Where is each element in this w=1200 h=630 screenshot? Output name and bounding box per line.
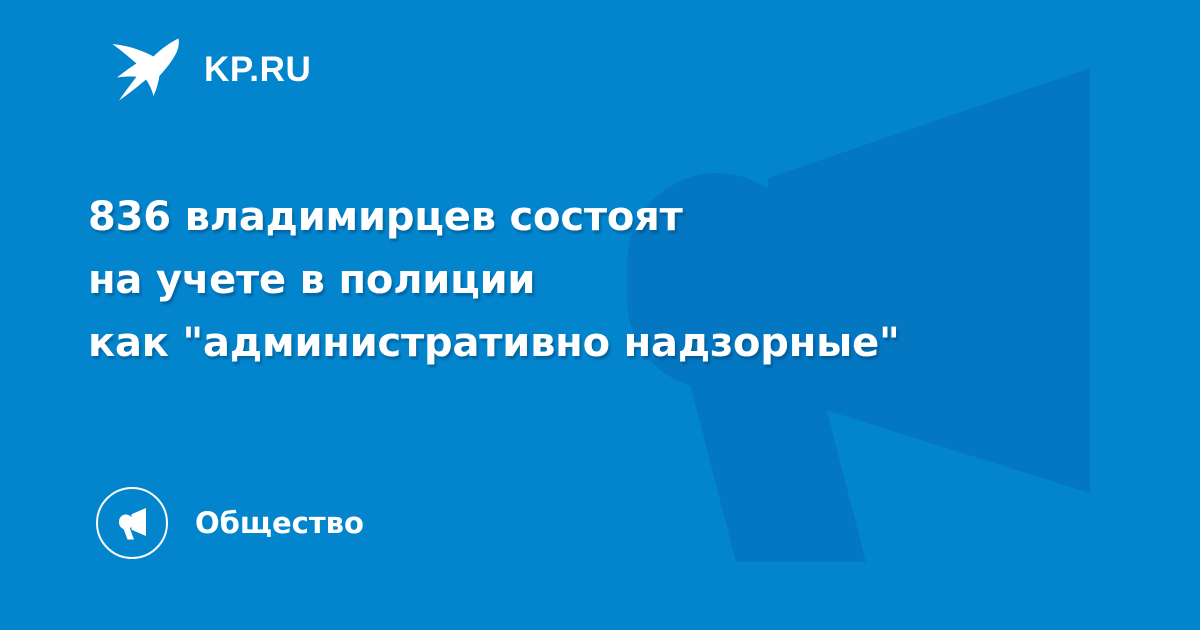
social-share-card: KP.RU 836 владимирцев состоят на учете в… [0, 0, 1200, 630]
site-header: KP.RU [108, 36, 311, 102]
headline: 836 владимирцев состоят на учете в полиц… [88, 186, 1108, 375]
rubric-label: Общество [195, 509, 364, 538]
headline-line-2: на учете в полиции [88, 249, 1108, 312]
brand-name: KP.RU [204, 52, 311, 87]
megaphone-icon [113, 504, 151, 542]
headline-line-3: как "административно надзорные" [88, 312, 1108, 375]
rubric-badge[interactable]: Общество [96, 487, 364, 559]
rubric-icon-circle [96, 487, 168, 559]
headline-line-1: 836 владимирцев состоят [88, 186, 1108, 249]
swallow-bird-icon [108, 36, 182, 102]
